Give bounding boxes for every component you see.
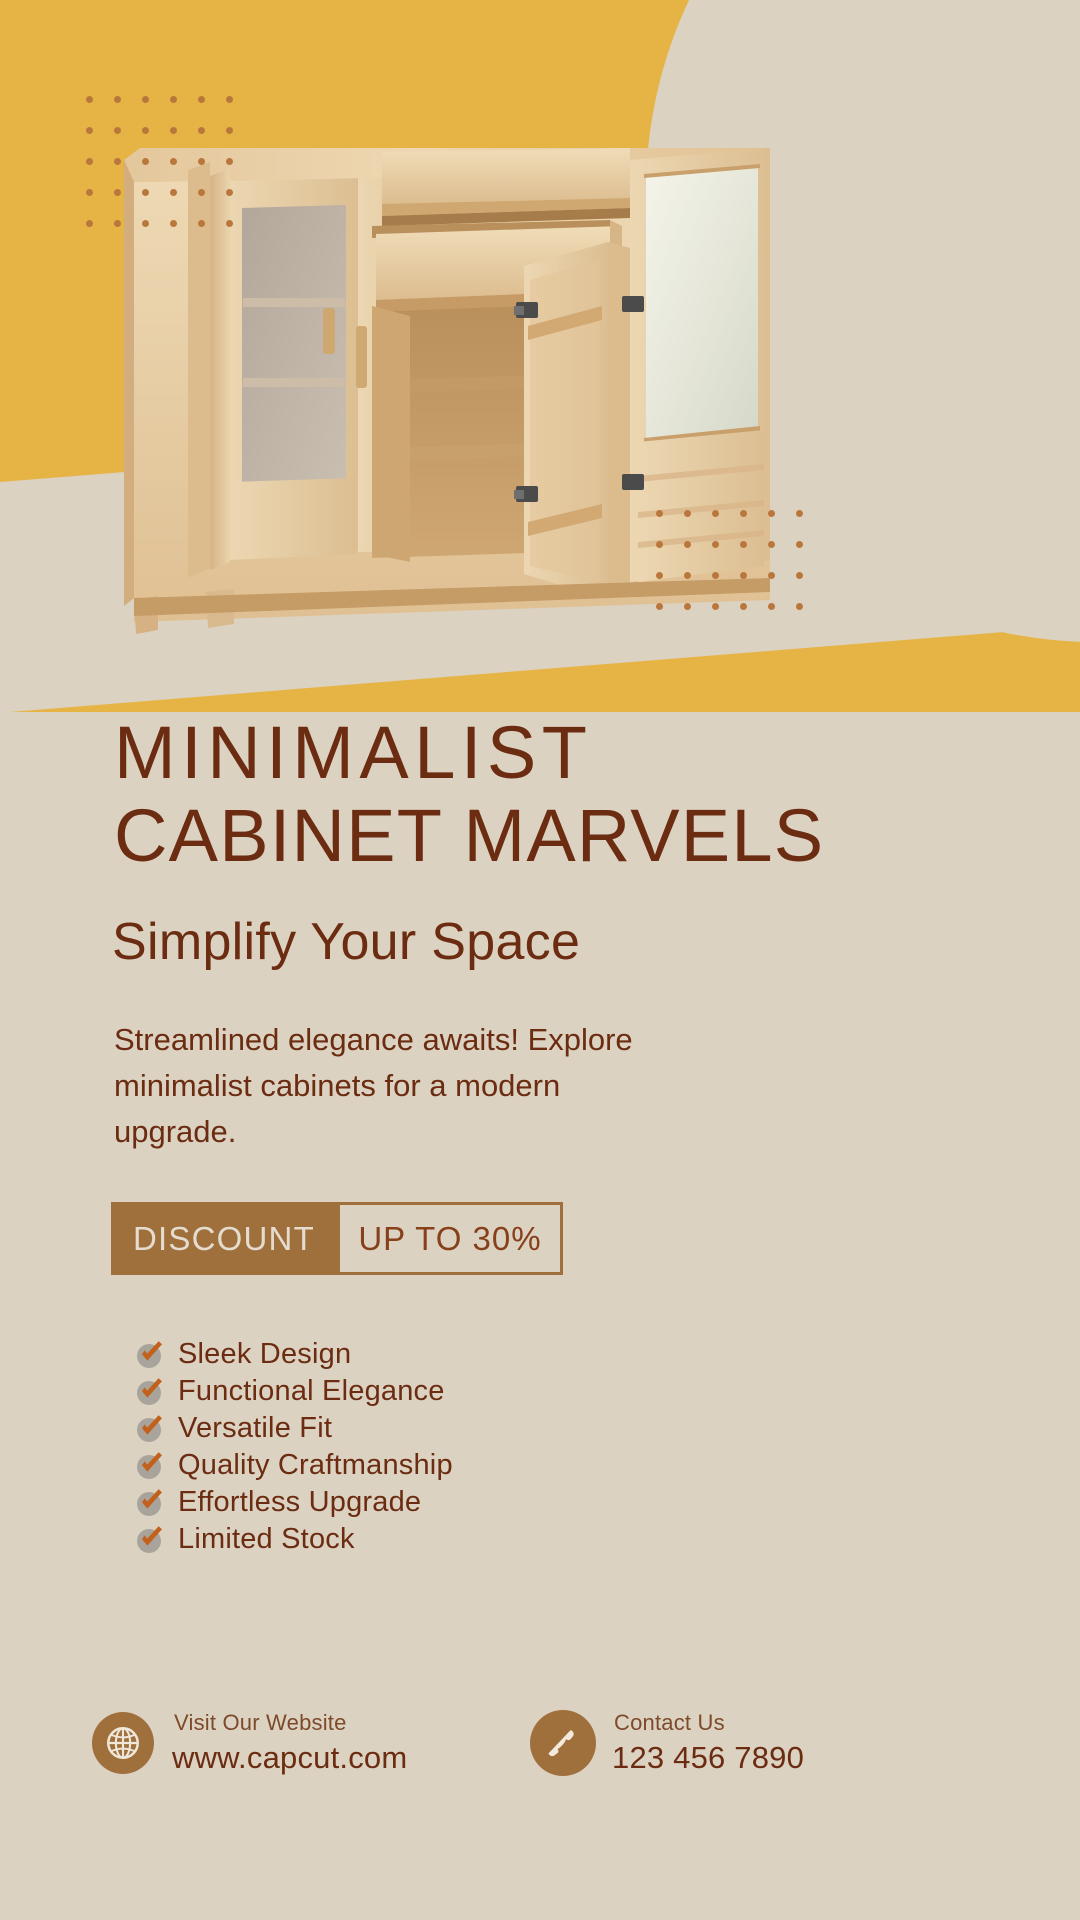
footer: Visit Our Website www.capcut.com Contact…	[0, 1692, 1080, 1832]
globe-icon	[92, 1712, 154, 1774]
check-circle-icon	[136, 1489, 164, 1517]
feature-label: Limited Stock	[178, 1523, 355, 1556]
check-circle-icon	[136, 1378, 164, 1406]
check-circle-icon	[136, 1341, 164, 1369]
list-item: Functional Elegance	[136, 1376, 1080, 1407]
footer-phone-group[interactable]: Contact Us 123 456 7890	[530, 1710, 804, 1776]
promo-poster: MINIMALIST CABINET MARVELS Simplify Your…	[0, 0, 1080, 1920]
phone-icon	[530, 1710, 596, 1776]
discount-label: DISCOUNT	[111, 1202, 337, 1275]
headline-line-1: MINIMALIST	[114, 712, 1080, 795]
subheadline: Simplify Your Space	[0, 878, 1080, 972]
feature-label: Sleek Design	[178, 1338, 351, 1371]
discount-badge: DISCOUNT UP TO 30%	[111, 1202, 563, 1275]
list-item: Limited Stock	[136, 1524, 1080, 1555]
discount-value: UP TO 30%	[337, 1202, 563, 1275]
phone-number[interactable]: 123 456 7890	[612, 1740, 804, 1776]
page-title: MINIMALIST CABINET MARVELS	[0, 712, 1080, 878]
check-circle-icon	[136, 1452, 164, 1480]
list-item: Sleek Design	[136, 1339, 1080, 1370]
feature-label: Functional Elegance	[178, 1375, 445, 1408]
dot-grid-bottom-right	[656, 510, 824, 634]
feature-label: Versatile Fit	[178, 1412, 332, 1445]
list-item: Quality Craftmanship	[136, 1450, 1080, 1481]
content-section: MINIMALIST CABINET MARVELS Simplify Your…	[0, 712, 1080, 1561]
body-copy: Streamlined elegance awaits! Explore min…	[0, 972, 660, 1155]
website-label: Visit Our Website	[172, 1710, 407, 1736]
list-item: Effortless Upgrade	[136, 1487, 1080, 1518]
feature-label: Effortless Upgrade	[178, 1486, 421, 1519]
feature-list: Sleek Design Functional Elegance Versati…	[0, 1275, 1080, 1555]
dot-grid-top-left	[86, 96, 254, 251]
phone-label: Contact Us	[612, 1710, 804, 1736]
feature-label: Quality Craftmanship	[178, 1449, 453, 1482]
check-circle-icon	[136, 1415, 164, 1443]
check-circle-icon	[136, 1526, 164, 1554]
list-item: Versatile Fit	[136, 1413, 1080, 1444]
headline-line-2: CABINET MARVELS	[114, 795, 1080, 878]
website-url[interactable]: www.capcut.com	[172, 1740, 407, 1776]
footer-website-group[interactable]: Visit Our Website www.capcut.com	[92, 1710, 407, 1776]
